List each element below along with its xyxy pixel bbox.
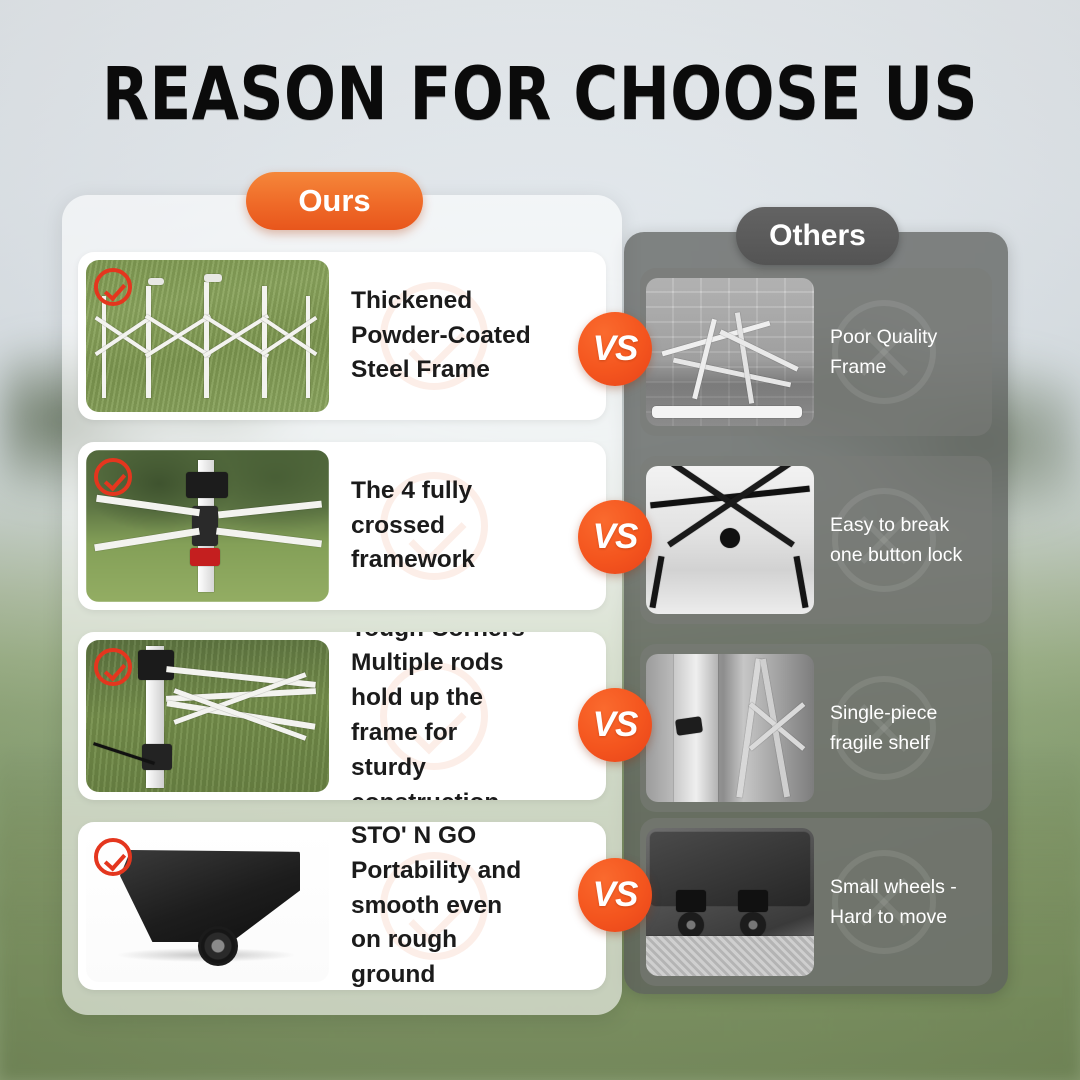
wheel-illustration <box>198 926 238 966</box>
ours-row-2: The 4 fully crossed framework <box>78 442 606 610</box>
others-text-2: Easy to break one button lock <box>814 510 992 570</box>
ours-image-steel-frame <box>86 260 329 412</box>
ours-image-crossed-framework <box>86 450 329 602</box>
ours-text-2: The 4 fully crossed framework <box>329 474 606 578</box>
others-text-4: Small wheels - Hard to move <box>814 872 992 932</box>
ours-image-tough-corners <box>86 640 329 792</box>
others-row-3: Single-piece fragile shelf <box>640 644 992 812</box>
ours-row-3: Tough Corners Multiple rods hold up the … <box>78 632 606 800</box>
ours-text-3: Tough Corners Multiple rods hold up the … <box>329 632 606 800</box>
ours-row-4: STO' N GO Portability and smooth even on… <box>78 822 606 990</box>
others-image-poor-frame <box>646 278 814 426</box>
page-title: REASON FOR CHOOSE US <box>38 52 1042 137</box>
others-row-2: Easy to break one button lock <box>640 456 992 624</box>
others-row-4: Small wheels - Hard to move <box>640 818 992 986</box>
vs-badge-4: VS <box>578 858 652 932</box>
others-row-1: Poor Quality Frame <box>640 268 992 436</box>
vs-badge-1: VS <box>578 312 652 386</box>
ours-badge: Ours <box>246 172 423 230</box>
check-circle-icon <box>94 838 132 876</box>
ours-text-4: STO' N GO Portability and smooth even on… <box>329 822 606 990</box>
others-text-1: Poor Quality Frame <box>814 322 992 382</box>
ours-text-1: Thickened Powder-Coated Steel Frame <box>329 284 606 388</box>
vs-badge-3: VS <box>578 688 652 762</box>
others-image-small-wheels <box>646 828 814 976</box>
check-circle-icon <box>94 268 132 306</box>
check-circle-icon <box>94 648 132 686</box>
others-badge: Others <box>736 207 899 265</box>
others-text-3: Single-piece fragile shelf <box>814 698 992 758</box>
others-image-fragile-shelf <box>646 654 814 802</box>
vs-badge-2: VS <box>578 500 652 574</box>
ours-image-sto-n-go <box>86 830 329 982</box>
check-circle-icon <box>94 458 132 496</box>
others-image-button-lock <box>646 466 814 614</box>
ours-row-1: Thickened Powder-Coated Steel Frame <box>78 252 606 420</box>
